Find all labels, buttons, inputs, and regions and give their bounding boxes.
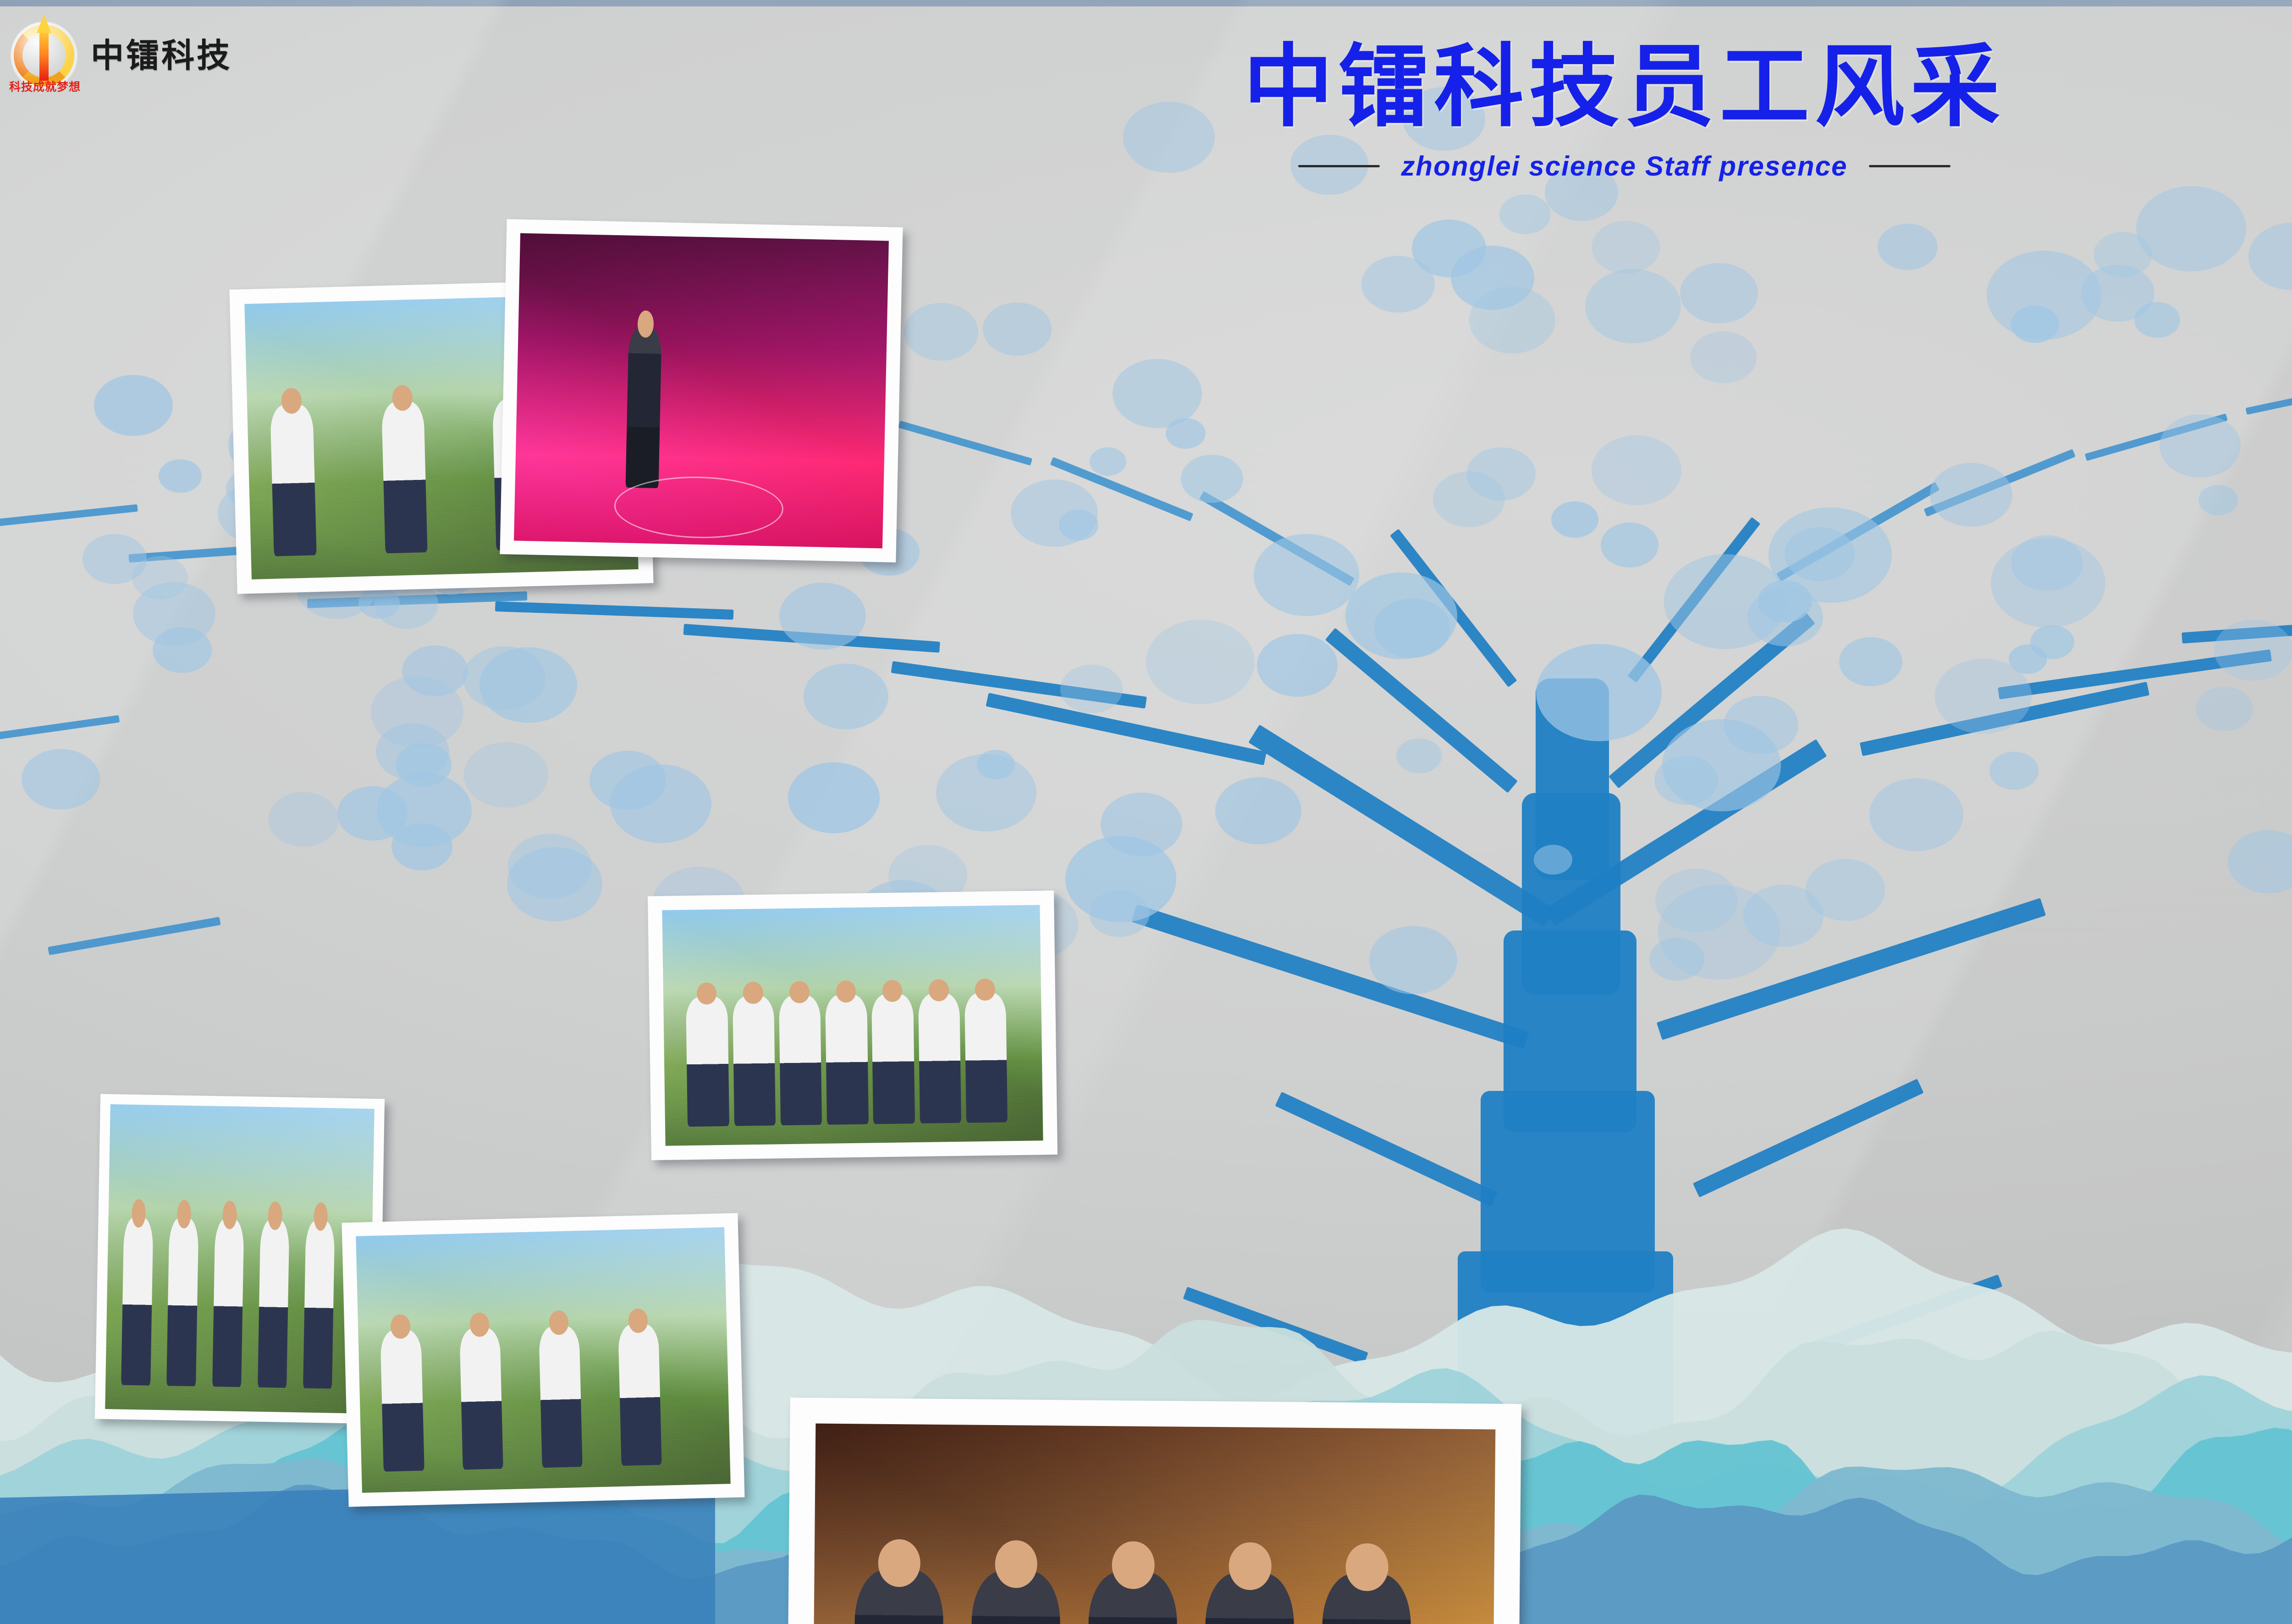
staff-presence-wall: 标兵奖英雄榜 颁奖典礼祝福：中镭科技全体员工金牌销售 奖英雄榜 颁奖典礼独立创新…: [0, 0, 2292, 1624]
rule-left-icon: [1298, 165, 1380, 167]
page-title: 中镭科技员工风采: [0, 42, 2292, 132]
subtitle-row: zhonglei science Staff presence: [0, 150, 2292, 182]
title-block: 中镭科技员工风采 zhonglei science Staff presence: [0, 42, 2292, 182]
rule-right-icon: [1869, 165, 1950, 167]
page-subtitle: zhonglei science Staff presence: [1401, 150, 1847, 182]
logo-arrow-tip-icon: [37, 15, 51, 33]
